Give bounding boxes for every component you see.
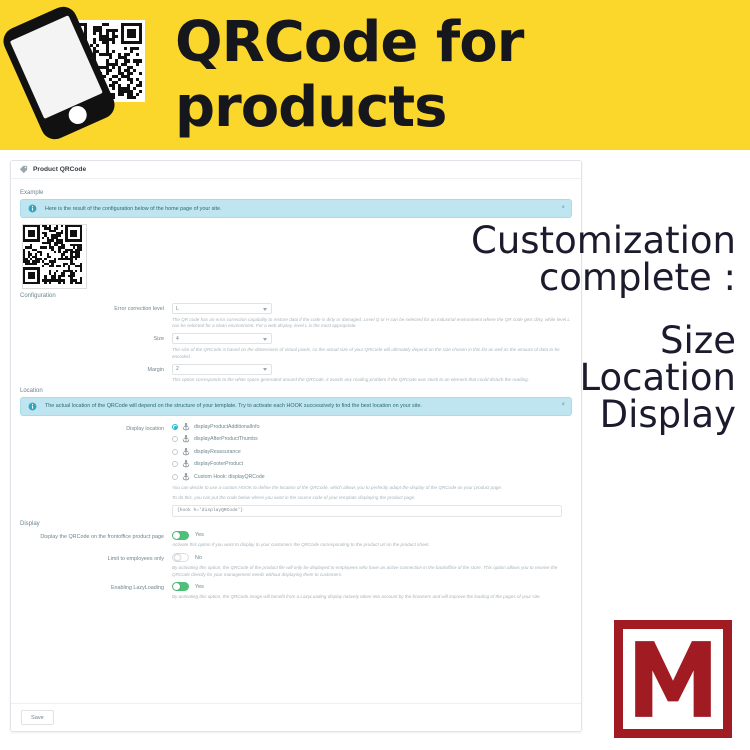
radio-option-displayproductadditionalinfo[interactable]: displayProductAdditionalInfo bbox=[172, 423, 572, 431]
display-frontoffice-switch[interactable] bbox=[172, 531, 189, 540]
field-label: Margin bbox=[20, 363, 172, 384]
toggle-display-frontoffice: Display the QRCode on the frontoffice pr… bbox=[20, 530, 572, 549]
field-margin: Margin 2 This option corresponds to the … bbox=[20, 363, 572, 384]
radio-label: displayReassurance bbox=[194, 449, 241, 455]
size-select[interactable]: 4 bbox=[172, 333, 272, 344]
example-info-alert: Here is the result of the configuration … bbox=[20, 199, 572, 218]
radio-option-displayreassurance[interactable]: displayReassurance bbox=[172, 448, 572, 456]
radio-indicator[interactable] bbox=[172, 474, 178, 480]
panel-header: Product QRCode bbox=[11, 161, 581, 179]
lazyloading-switch[interactable] bbox=[172, 582, 189, 591]
example-alert-text: Here is the result of the configuration … bbox=[45, 206, 222, 212]
field-hint: The size of the QRCode is based on the d… bbox=[172, 347, 572, 361]
anchor-icon bbox=[182, 460, 190, 468]
field-display-location: Display location displayProductAdditiona… bbox=[20, 422, 572, 517]
radio-indicator[interactable] bbox=[172, 449, 178, 455]
toggle-hint: By activating this option, the QRCode im… bbox=[172, 594, 572, 601]
save-button[interactable]: Save bbox=[21, 710, 54, 725]
toggle-label: Limit to employees only bbox=[20, 552, 172, 563]
banner-title: QRCode for products bbox=[175, 10, 750, 140]
tag-icon bbox=[19, 165, 28, 174]
toggle-state-label: Yes bbox=[195, 584, 204, 590]
radio-indicator[interactable] bbox=[172, 461, 178, 467]
margin-select[interactable]: 2 bbox=[172, 364, 272, 375]
radio-option-displayfooterproduct[interactable]: displayFooterProduct bbox=[172, 460, 572, 468]
section-label-configuration: Configuration bbox=[20, 293, 572, 299]
field-label: Error correction level bbox=[20, 302, 172, 330]
location-alert-text: The actual location of the QRCode will d… bbox=[45, 403, 422, 409]
anchor-icon bbox=[182, 435, 190, 443]
custom-hook-hint-2: To do this, you can put the code below w… bbox=[172, 495, 572, 502]
close-icon[interactable]: × bbox=[561, 205, 565, 211]
anchor-icon bbox=[182, 473, 190, 481]
section-label-display: Display bbox=[20, 521, 572, 527]
toggle-hint: Activate this option if you want to disp… bbox=[172, 542, 572, 549]
toggle-label: Display the QRCode on the frontoffice pr… bbox=[20, 530, 172, 541]
letter-m-icon bbox=[630, 636, 716, 722]
toggle-state-label: Yes bbox=[195, 532, 204, 538]
brand-watermark-logo bbox=[614, 620, 732, 738]
field-label: Display location bbox=[20, 422, 172, 517]
page-banner: QRCode for products bbox=[0, 0, 750, 150]
radio-label: displayAfterProductThumbs bbox=[194, 436, 258, 442]
custom-hook-code-input[interactable]: {hook h='displayQRCode'} bbox=[172, 505, 562, 517]
radio-option-custom-hook[interactable]: Custom Hook: displayQRCode bbox=[172, 473, 572, 481]
error-correction-level-select[interactable]: L bbox=[172, 303, 272, 314]
anchor-icon bbox=[182, 423, 190, 431]
field-error-correction-level: Error correction level L The QR code has… bbox=[20, 302, 572, 330]
select-value: 2 bbox=[176, 366, 179, 372]
anchor-icon bbox=[182, 448, 190, 456]
custom-hook-hint-1: You can decide to use a custom HOOK to d… bbox=[172, 485, 572, 492]
toggle-label: Enabling LazyLoading bbox=[20, 581, 172, 592]
section-label-location: Location bbox=[20, 388, 572, 394]
close-icon[interactable]: × bbox=[561, 402, 565, 408]
field-hint: This option corresponds to the white spa… bbox=[172, 377, 572, 384]
radio-label: displayFooterProduct bbox=[194, 461, 243, 467]
field-hint: The QR code has an error correction capa… bbox=[172, 317, 572, 331]
panel-footer: Save bbox=[11, 703, 581, 731]
section-label-example: Example bbox=[20, 190, 572, 196]
chevron-down-icon bbox=[263, 308, 267, 311]
radio-option-displayafterproductthumbs[interactable]: displayAfterProductThumbs bbox=[172, 435, 572, 443]
chevron-down-icon bbox=[263, 338, 267, 341]
chevron-down-icon bbox=[263, 368, 267, 371]
select-value: 4 bbox=[176, 336, 179, 342]
select-value: L bbox=[176, 306, 179, 312]
location-info-alert: The actual location of the QRCode will d… bbox=[20, 397, 572, 416]
toggle-lazyloading: Enabling LazyLoading Yes By activating t… bbox=[20, 581, 572, 600]
toggle-state-label: No bbox=[195, 555, 202, 561]
limit-employees-switch[interactable] bbox=[172, 553, 189, 562]
qrcode-preview-image bbox=[22, 224, 87, 289]
product-qrcode-panel: Product QRCode Example Here is the resul… bbox=[10, 160, 582, 732]
panel-title: Product QRCode bbox=[33, 166, 86, 173]
radio-label: Custom Hook: displayQRCode bbox=[194, 474, 265, 480]
info-circle-icon bbox=[28, 402, 37, 411]
panel-body: Example Here is the result of the config… bbox=[11, 179, 581, 601]
toggle-hint: By activating this option, the QRCode of… bbox=[172, 565, 572, 579]
page-root: QRCode for products Product QRCode Examp… bbox=[0, 0, 750, 750]
radio-indicator[interactable] bbox=[172, 424, 178, 430]
info-circle-icon bbox=[28, 204, 37, 213]
field-size: Size 4 The size of the QRCode is based o… bbox=[20, 332, 572, 360]
radio-label: displayProductAdditionalInfo bbox=[194, 424, 259, 430]
toggle-limit-employees: Limit to employees only No By activating… bbox=[20, 552, 572, 578]
field-label: Size bbox=[20, 332, 172, 360]
radio-indicator[interactable] bbox=[172, 436, 178, 442]
smartphone-qrcode-icon bbox=[8, 5, 153, 145]
custom-hook-code-value: {hook h='displayQRCode'} bbox=[177, 508, 243, 513]
